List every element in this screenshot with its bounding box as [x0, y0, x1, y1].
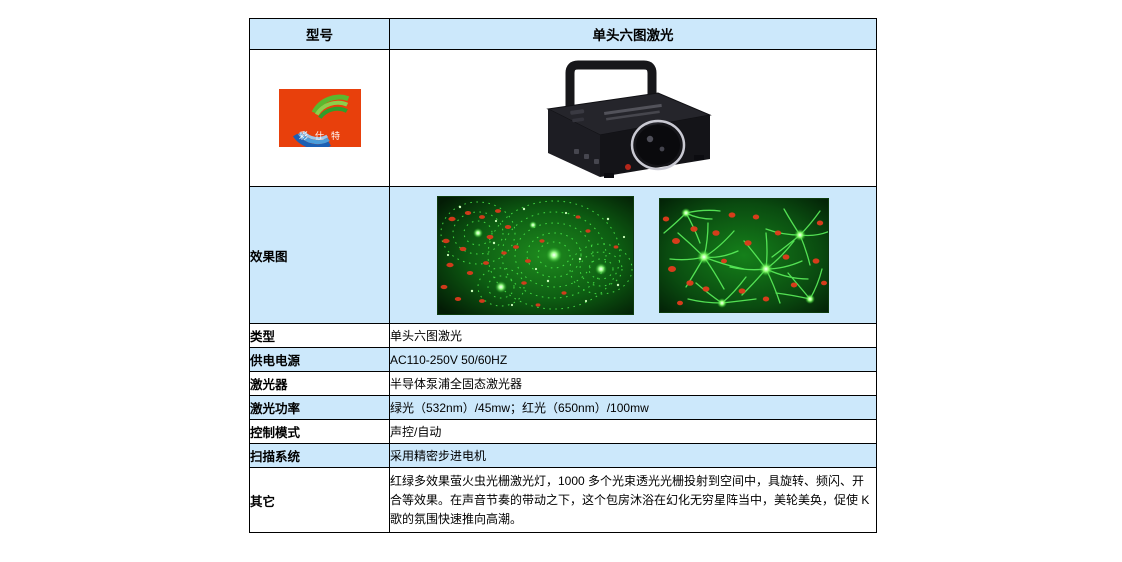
spec-label-type: 类型: [250, 324, 390, 348]
spec-label-laser-power: 激光功率: [250, 396, 390, 420]
spec-value-control-mode: 声控/自动: [390, 420, 877, 444]
spec-value-scan-system: 采用精密步进电机: [390, 444, 877, 468]
table-row: 控制模式 声控/自动: [250, 420, 877, 444]
table-row: 扫描系统 采用精密步进电机: [250, 444, 877, 468]
header-model-label: 型号: [250, 19, 390, 50]
logo-wordmark: 彩仕特: [279, 129, 361, 142]
product-spec-table: 型号 单头六图激光 彩仕特: [249, 18, 877, 533]
product-image-row: 彩仕特: [250, 50, 877, 187]
table-row: 激光功率 绿光（532nm）/45mw；红光（650nm）/100mw: [250, 396, 877, 420]
brand-logo: 彩仕特: [279, 89, 361, 147]
spec-label-control-mode: 控制模式: [250, 420, 390, 444]
spec-value-laser: 半导体泵浦全固态激光器: [390, 372, 877, 396]
spec-label-other: 其它: [250, 468, 390, 533]
brand-logo-cell: 彩仕特: [250, 50, 390, 187]
effect-images-wrap: [390, 187, 876, 323]
table-row-other: 其它 红绿多效果萤火虫光栅激光灯，1000 多个光束透光光栅投射到空间中，具旋转…: [250, 468, 877, 533]
product-photo-wrap: [390, 50, 876, 186]
table-row: 类型 单头六图激光: [250, 324, 877, 348]
logo-wrap: 彩仕特: [250, 50, 389, 186]
effect-image-starfield: [437, 196, 634, 315]
spec-label-scan-system: 扫描系统: [250, 444, 390, 468]
effect-images-cell: [390, 187, 877, 324]
spec-value-power-supply: AC110-250V 50/60HZ: [390, 348, 877, 372]
spec-label-power-supply: 供电电源: [250, 348, 390, 372]
spec-label-laser: 激光器: [250, 372, 390, 396]
spec-value-other: 红绿多效果萤火虫光栅激光灯，1000 多个光束透光光栅投射到空间中，具旋转、频闪…: [390, 468, 877, 533]
table-header-row: 型号 单头六图激光: [250, 19, 877, 50]
page-root: 型号 单头六图激光 彩仕特: [0, 0, 1122, 562]
product-photo-cell: [390, 50, 877, 187]
effect-image-swirl: [659, 198, 829, 313]
header-model-value: 单头六图激光: [390, 19, 877, 50]
effect-row-label: 效果图: [250, 187, 390, 324]
table-row: 供电电源 AC110-250V 50/60HZ: [250, 348, 877, 372]
table-row: 激光器 半导体泵浦全固态激光器: [250, 372, 877, 396]
spec-value-type: 单头六图激光: [390, 324, 877, 348]
spec-value-laser-power: 绿光（532nm）/45mw；红光（650nm）/100mw: [390, 396, 877, 420]
laser-projector-image: [508, 55, 758, 181]
effect-image-row: 效果图: [250, 187, 877, 324]
